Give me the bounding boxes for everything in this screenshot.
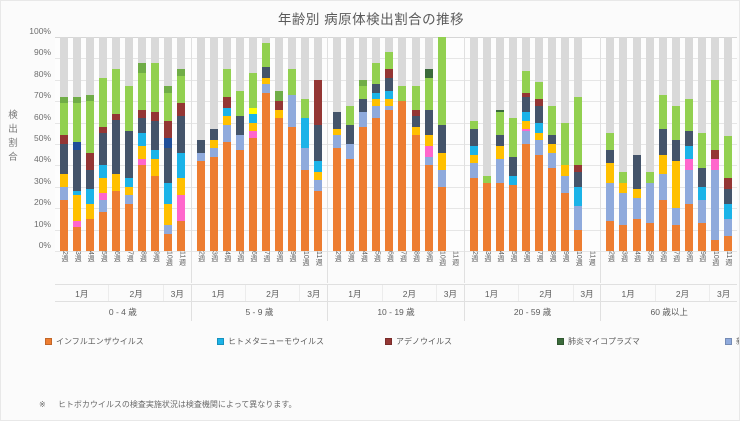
bar-segment [574, 37, 582, 97]
bar-segment [236, 116, 244, 135]
legend-item[interactable]: 新型コロナウイルス [725, 335, 740, 348]
legend: インフルエンザウイルスヒトメタニューモウイルスアデノウイルス肺炎マイコプラズマ新… [45, 335, 725, 348]
stacked-bar[interactable] [646, 37, 654, 251]
bar-segment [659, 37, 667, 95]
bar-segment [496, 159, 504, 183]
bar-segment [385, 110, 393, 251]
bar-segment [470, 163, 478, 178]
bar-segment [314, 172, 322, 181]
bar-segment [223, 97, 231, 108]
week-label: 5週 [509, 251, 517, 283]
footnote: ※ ヒトボカウイルスの検査実施状況は検査機関によって異なります。 [39, 399, 297, 410]
week-label: 3週 [483, 251, 491, 283]
bar-segment [301, 118, 309, 148]
month-label: 3月 [437, 285, 464, 302]
bar-segment [470, 155, 478, 164]
legend-label: 新型コロナウイルス [736, 336, 740, 347]
week-label: 3週 [346, 251, 354, 283]
bar-segment [633, 219, 641, 251]
y-axis-tick: 100% [18, 26, 51, 36]
stacked-bar[interactable] [574, 37, 582, 251]
stacked-bar[interactable] [509, 37, 517, 251]
bar-segment [548, 37, 556, 105]
bar-segment [548, 168, 556, 251]
bar-segment [724, 37, 732, 135]
stacked-bar[interactable] [73, 37, 81, 251]
bar-segment [548, 135, 556, 144]
bar-segment [372, 37, 380, 63]
bar-segment [633, 198, 641, 219]
stacked-bar[interactable] [672, 37, 680, 251]
legend-label: ヒトメタニューモウイルス [228, 336, 324, 347]
bar-segment [177, 153, 185, 179]
week-label: 7週 [125, 251, 133, 283]
bar-segment [151, 176, 159, 251]
month-label: 2月 [656, 285, 710, 302]
bar-segment [646, 37, 654, 172]
bar-segment [112, 120, 120, 174]
stacked-bar[interactable] [587, 37, 595, 251]
y-axis-tick: 70% [18, 90, 51, 100]
month-label: 2月 [246, 285, 300, 302]
legend-item[interactable]: ヒトメタニューモウイルス [217, 335, 385, 348]
bar-segment [346, 125, 354, 144]
stacked-bar[interactable] [633, 37, 641, 251]
bar-groups [55, 37, 737, 251]
bar-segment [86, 170, 94, 189]
month-label-group: 1月2月3月 [55, 285, 192, 302]
bar-segment [633, 155, 641, 189]
bar-segment [60, 135, 68, 144]
stacked-bar[interactable] [288, 37, 296, 251]
bar-segment [548, 153, 556, 168]
stacked-bar[interactable] [561, 37, 569, 251]
bar-segment [333, 112, 341, 129]
stacked-bar[interactable] [262, 37, 270, 251]
legend-swatch-icon [217, 338, 224, 345]
bar-segment [724, 204, 732, 219]
bar-segment [412, 86, 420, 110]
bar-segment [561, 193, 569, 251]
bar-segment [522, 131, 530, 144]
bar-segment [138, 118, 146, 133]
week-label: 10週 [574, 251, 582, 283]
bar-segment [86, 37, 94, 95]
bar-segment [685, 170, 693, 204]
bar-segment [288, 127, 296, 251]
bar-segment [672, 161, 680, 208]
month-label: 1月 [192, 285, 246, 302]
month-label: 1月 [55, 285, 109, 302]
y-axis-tick: 90% [18, 47, 51, 57]
bar-segment [522, 37, 530, 71]
bar-segment [151, 159, 159, 176]
bar-segment [685, 99, 693, 131]
bar-segment [509, 185, 517, 251]
bar-segment [164, 121, 172, 138]
bar-segment [425, 135, 433, 146]
week-label: 4週 [633, 251, 641, 283]
bar-segment [314, 125, 322, 161]
bar-segment [164, 225, 172, 234]
footnote-text: ヒトボカウイルスの検査実施状況は検査機関によって異なります。 [58, 400, 297, 409]
stacked-bar[interactable] [425, 37, 433, 251]
bar-segment [125, 37, 133, 86]
stacked-bar[interactable] [86, 37, 94, 251]
bar-group [192, 37, 329, 251]
week-label: 6週 [659, 251, 667, 283]
bar-segment [197, 140, 205, 153]
bar-segment [646, 223, 654, 251]
bar-segment [398, 86, 406, 101]
bar-segment [73, 103, 81, 142]
week-label: 2週 [606, 251, 614, 283]
bar-segment [535, 106, 543, 123]
stacked-bar[interactable] [346, 37, 354, 251]
stacked-bar[interactable] [606, 37, 614, 251]
bar-segment [496, 146, 504, 159]
week-label: 8週 [138, 251, 146, 283]
stacked-bar[interactable] [659, 37, 667, 251]
week-label: 5週 [236, 251, 244, 283]
bar-segment [164, 37, 172, 86]
bar-segment [685, 37, 693, 99]
bar-segment [164, 204, 172, 225]
bar-segment [301, 148, 309, 169]
legend-item[interactable]: 肺炎マイコプラズマ [557, 335, 725, 348]
week-label-group: 2週3週4週5週6週7週8週9週10週11週 [465, 251, 602, 283]
week-label: 9週 [698, 251, 706, 283]
week-label: 3週 [619, 251, 627, 283]
bar-segment [672, 106, 680, 140]
bar-segment [197, 37, 205, 140]
stacked-bar[interactable] [177, 37, 185, 251]
week-label: 3週 [73, 251, 81, 283]
bar-segment [262, 93, 270, 251]
week-label: 11週 [724, 251, 732, 283]
week-label: 9週 [288, 251, 296, 283]
bar-segment [698, 223, 706, 251]
plot-area [55, 37, 737, 251]
stacked-bar[interactable] [249, 37, 257, 251]
bar-segment [698, 37, 706, 133]
week-label: 6週 [249, 251, 257, 283]
bar-segment [535, 37, 543, 82]
bar-segment [262, 84, 270, 93]
stacked-bar[interactable] [438, 37, 446, 251]
stacked-bar[interactable] [535, 37, 543, 251]
x-axis-week-labels: 2週3週4週5週6週7週8週9週10週11週2週3週4週5週6週7週8週9週10… [55, 251, 737, 283]
bar-segment [385, 52, 393, 69]
week-label: 10週 [711, 251, 719, 283]
bar-segment [112, 37, 120, 69]
stacked-bar[interactable] [398, 37, 406, 251]
bar-segment [86, 204, 94, 219]
bar-segment [73, 227, 81, 251]
stacked-bar[interactable] [275, 37, 283, 251]
bar-segment [574, 206, 582, 230]
bar-segment [470, 178, 478, 251]
stacked-bar[interactable] [698, 37, 706, 251]
month-label: 3月 [300, 285, 327, 302]
bar-segment [288, 69, 296, 95]
bar-segment [249, 123, 257, 132]
stacked-bar[interactable] [210, 37, 218, 251]
month-label: 3月 [164, 285, 191, 302]
bar-segment [125, 204, 133, 251]
bar-segment [425, 37, 433, 69]
bar-segment [398, 37, 406, 86]
week-label: 11週 [177, 251, 185, 283]
bar-segment [659, 200, 667, 251]
bar-segment [151, 121, 159, 151]
bar-segment [125, 86, 133, 131]
bar-segment [509, 118, 517, 157]
bar-segment [574, 172, 582, 187]
week-label-group: 2週3週4週5週6週7週8週9週10週11週 [328, 251, 465, 283]
week-label: 6週 [522, 251, 530, 283]
week-label-group: 2週3週4週5週6週7週8週9週10週11週 [55, 251, 192, 283]
y-axis-tick: 40% [18, 154, 51, 164]
bar-segment [606, 221, 614, 251]
bar-segment [711, 150, 719, 159]
bar-segment [125, 178, 133, 187]
bar-segment [619, 183, 627, 194]
week-label: 10週 [301, 251, 309, 283]
stacked-bar[interactable] [522, 37, 530, 251]
bar-segment [425, 69, 433, 78]
bar-segment [138, 110, 146, 119]
bar-segment [301, 170, 309, 251]
bar-segment [138, 133, 146, 146]
stacked-bar[interactable] [125, 37, 133, 251]
bar-segment [385, 37, 393, 52]
week-label: 5週 [372, 251, 380, 283]
bar-segment [210, 140, 218, 149]
stacked-bar[interactable] [60, 37, 68, 251]
bar-segment [112, 69, 120, 114]
bar-segment [496, 183, 504, 251]
y-axis-tick: 20% [18, 197, 51, 207]
bar-segment [470, 146, 478, 155]
bar-segment [619, 172, 627, 183]
bar-segment [210, 157, 218, 251]
age-group-label: 0 - 4 歳 [55, 302, 192, 321]
month-label-group: 1月2月3月 [601, 285, 737, 302]
bar-segment [73, 195, 81, 221]
bar-segment [561, 165, 569, 176]
bar-segment [359, 99, 367, 112]
stacked-bar[interactable] [711, 37, 719, 251]
week-label: 8週 [275, 251, 283, 283]
bar-segment [646, 183, 654, 224]
footnote-mark: ※ [39, 400, 46, 409]
stacked-bar[interactable] [483, 37, 491, 251]
bar-segment [685, 131, 693, 146]
stacked-bar[interactable] [470, 37, 478, 251]
age-group-label: 60 歳以上 [601, 302, 737, 321]
legend-label: インフルエンザウイルス [56, 336, 144, 347]
stacked-bar[interactable] [412, 37, 420, 251]
stacked-bar[interactable] [112, 37, 120, 251]
bar-segment [125, 187, 133, 196]
bar-segment [672, 140, 680, 161]
bar-segment [698, 187, 706, 200]
bar-segment [438, 125, 446, 153]
stacked-bar[interactable] [372, 37, 380, 251]
bar-segment [164, 234, 172, 251]
bar-segment [112, 174, 120, 191]
bar-segment [724, 178, 732, 189]
stacked-bar[interactable] [333, 37, 341, 251]
bar-segment [633, 189, 641, 198]
bar-segment [177, 116, 185, 152]
week-label-group: 2週3週4週5週6週7週8週9週10週11週 [601, 251, 737, 283]
bar-segment [496, 112, 504, 136]
bar-segment [685, 159, 693, 170]
week-label: 4週 [223, 251, 231, 283]
bar-segment [672, 225, 680, 251]
bar-segment [301, 99, 309, 118]
bar-segment [711, 170, 719, 241]
y-axis-tick-labels: 0%10%20%30%40%50%60%70%80%90%100% [18, 31, 51, 251]
stacked-bar[interactable] [359, 37, 367, 251]
stacked-bar[interactable] [385, 37, 393, 251]
bar-segment [249, 138, 257, 251]
stacked-bar[interactable] [151, 37, 159, 251]
legend-label: アデノウイルス [396, 336, 452, 347]
stacked-bar[interactable] [496, 37, 504, 251]
bar-segment [177, 195, 185, 221]
bar-segment [249, 37, 257, 73]
week-label: 9週 [151, 251, 159, 283]
stacked-bar[interactable] [619, 37, 627, 251]
bar-segment [359, 127, 367, 251]
bar-segment [86, 153, 94, 170]
bar-segment [412, 135, 420, 251]
stacked-bar[interactable] [164, 37, 172, 251]
bar-segment [346, 159, 354, 251]
bar-segment [633, 37, 641, 155]
month-label-group: 1月2月3月 [328, 285, 465, 302]
bar-segment [672, 208, 680, 225]
bar-segment [333, 135, 341, 148]
bar-segment [262, 67, 270, 78]
bar-segment [314, 191, 322, 251]
bar-segment [99, 78, 107, 127]
bar-segment [60, 37, 68, 97]
legend-label: 肺炎マイコプラズマ [568, 336, 640, 347]
bar-segment [385, 78, 393, 91]
bar-segment [438, 153, 446, 170]
stacked-bar[interactable] [236, 37, 244, 251]
month-label: 2月 [383, 285, 437, 302]
week-label: 7週 [262, 251, 270, 283]
bar-segment [86, 189, 94, 204]
legend-swatch-icon [385, 338, 392, 345]
week-label: 3週 [210, 251, 218, 283]
legend-item[interactable]: インフルエンザウイルス [45, 335, 217, 348]
bar-segment [509, 157, 517, 176]
bar-segment [574, 97, 582, 165]
bar-segment [60, 200, 68, 251]
week-label: 11週 [451, 251, 459, 283]
bar-segment [672, 37, 680, 105]
bar-group [328, 37, 465, 251]
bar-segment [125, 195, 133, 204]
bar-segment [711, 80, 719, 151]
week-label: 10週 [164, 251, 172, 283]
bar-segment [164, 183, 172, 204]
bar-segment [606, 150, 614, 163]
month-label: 2月 [519, 285, 573, 302]
bar-segment [438, 187, 446, 251]
bar-segment [223, 125, 231, 142]
y-axis-tick: 60% [18, 112, 51, 122]
week-label: 6週 [112, 251, 120, 283]
y-axis-tick: 50% [18, 133, 51, 143]
bar-segment [275, 37, 283, 91]
bar-segment [346, 144, 354, 159]
bar-segment [606, 133, 614, 150]
week-label: 8週 [685, 251, 693, 283]
week-label: 2週 [60, 251, 68, 283]
stacked-bar[interactable] [99, 37, 107, 251]
bar-segment [470, 121, 478, 130]
stacked-bar[interactable] [548, 37, 556, 251]
week-label: 5週 [99, 251, 107, 283]
week-label: 8週 [412, 251, 420, 283]
bar-segment [210, 129, 218, 140]
bar-segment [73, 150, 81, 191]
week-label: 8週 [548, 251, 556, 283]
bar-segment [60, 103, 68, 135]
stacked-bar[interactable] [314, 37, 322, 251]
x-axis-age-group-labels: 0 - 4 歳5 - 9 歳10 - 19 歳20 - 59 歳60 歳以上 [55, 301, 737, 321]
week-label: 7週 [535, 251, 543, 283]
bar-segment [425, 157, 433, 166]
bar-segment [164, 138, 172, 149]
stacked-bar[interactable] [138, 37, 146, 251]
bar-group [55, 37, 192, 251]
stacked-bar[interactable] [223, 37, 231, 251]
bar-segment [346, 106, 354, 125]
bar-segment [125, 131, 133, 178]
bar-segment [496, 135, 504, 146]
bar-segment [724, 136, 732, 179]
bar-segment [646, 172, 654, 183]
bar-segment [197, 153, 205, 162]
bar-segment [99, 133, 107, 165]
bar-segment [724, 236, 732, 251]
stacked-bar[interactable] [685, 37, 693, 251]
stacked-bar[interactable] [197, 37, 205, 251]
stacked-bar[interactable] [301, 37, 309, 251]
age-group-label: 20 - 59 歳 [465, 302, 602, 321]
bar-segment [177, 103, 185, 116]
bar-segment [223, 37, 231, 69]
month-label-group: 1月2月3月 [192, 285, 329, 302]
bar-segment [236, 37, 244, 91]
page-title: 年齢別 病原体検出割合の推移 [1, 8, 740, 28]
legend-item[interactable]: アデノウイルス [385, 335, 557, 348]
bar-segment [249, 114, 257, 123]
stacked-bar[interactable] [724, 37, 732, 251]
week-label: 4週 [496, 251, 504, 283]
stacked-bar[interactable] [451, 37, 459, 251]
bar-segment [151, 37, 159, 63]
bar-segment [561, 37, 569, 123]
